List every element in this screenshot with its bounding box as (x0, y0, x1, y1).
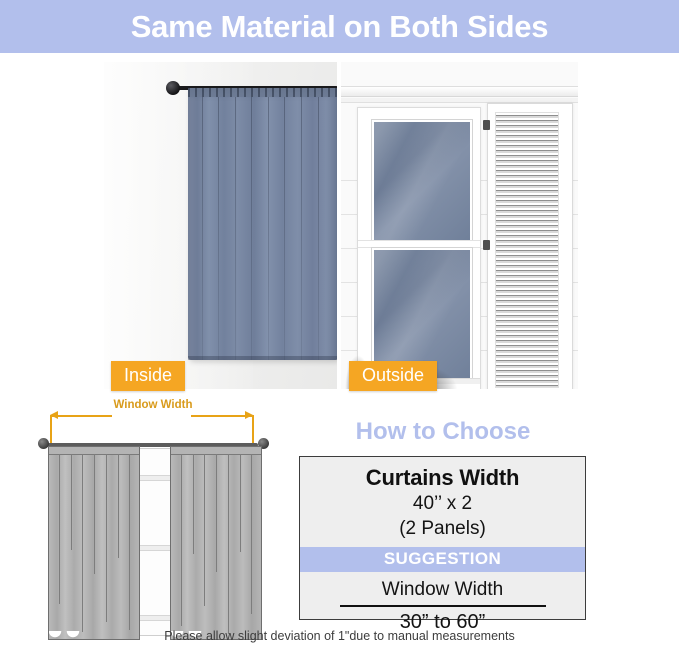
dimension-line-left (50, 415, 112, 417)
rod-finial-icon (166, 81, 180, 95)
badge-inside: Inside (111, 361, 185, 391)
curtain-hem (188, 356, 337, 360)
curtain-panel-photo (188, 88, 337, 360)
suggestion-band: SUGGESTION (300, 547, 585, 572)
photo-row (0, 53, 679, 393)
curtains-width-label: Curtains Width (300, 466, 585, 490)
curtains-width-value: 40’’ x 2 (300, 493, 585, 515)
photo-outside (341, 62, 578, 389)
badge-outside: Outside (349, 361, 437, 391)
window-pane-upper (372, 120, 472, 242)
footnote: Please allow slight deviation of 1"due t… (0, 630, 679, 643)
dimension-label: Window Width (24, 400, 282, 412)
window-shutter (487, 103, 573, 389)
roof-eave (341, 86, 578, 97)
window-mullion (358, 240, 480, 248)
diagram-panel-left (48, 446, 140, 640)
dimension-line-right (191, 415, 253, 417)
shutter-hinge-icon (483, 240, 490, 250)
panels-note: (2 Panels) (300, 518, 585, 540)
window-frame (357, 107, 481, 389)
shutter-louvers (495, 112, 559, 388)
diagram-panel-right (170, 446, 262, 640)
glass-reflection (374, 122, 470, 240)
rod-pocket-gathers (188, 88, 337, 97)
size-guide-table: Curtains Width 40’’ x 2 (2 Panels) SUGGE… (299, 456, 586, 620)
window-width-label: Window Width (300, 579, 585, 601)
page-title: Same Material on Both Sides (0, 0, 679, 53)
divider-rule (340, 605, 546, 608)
infographic-root: Same Material on Both Sides (0, 0, 679, 654)
photo-inside (104, 62, 337, 389)
how-to-choose-title: How to Choose (299, 420, 587, 444)
shutter-hinge-icon (483, 120, 490, 130)
window-width-diagram: Window Width (24, 400, 282, 644)
